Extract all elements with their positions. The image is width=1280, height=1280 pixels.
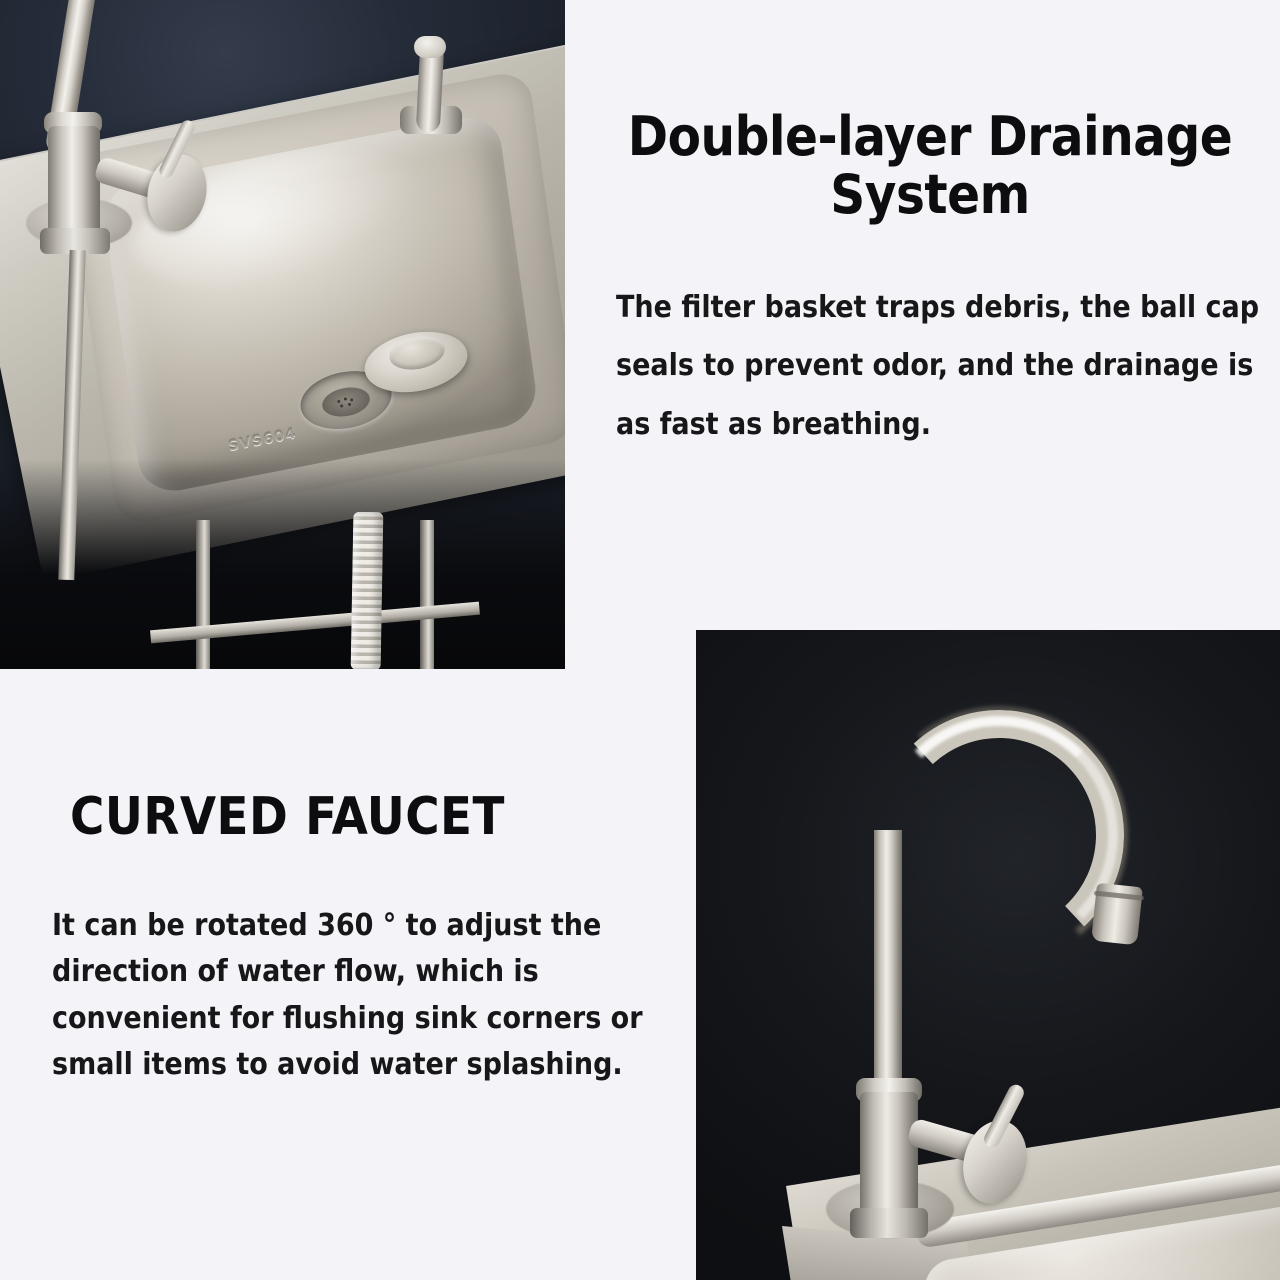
faucet-valve-body	[860, 1092, 918, 1222]
stand-leg-right	[420, 520, 434, 669]
faucet-mount-base	[850, 1208, 928, 1238]
faucet-text-block: CURVED FAUCET It can be rotated 360 ° to…	[52, 790, 702, 1089]
faucet-heading: CURVED FAUCET	[70, 790, 702, 845]
spout-outlet-tip	[1091, 883, 1143, 945]
drainage-heading: Double-layer Drainage System	[580, 108, 1280, 225]
drainage-text-block: Double-layer Drainage System The filter …	[580, 108, 1280, 454]
secondary-valve-knob	[414, 36, 446, 58]
drain-hose	[351, 512, 384, 669]
faucet-photo	[696, 630, 1280, 1280]
drainage-photo: SVS604	[0, 0, 565, 669]
gooseneck-highlight	[880, 716, 1118, 954]
faucet-body	[48, 126, 100, 238]
photo-lower-shadow	[0, 459, 565, 669]
faucet-body-text: It can be rotated 360 ° to adjust the di…	[52, 903, 692, 1089]
faucet-riser-column	[874, 830, 902, 1100]
stand-leg-middle	[196, 520, 210, 669]
drainage-body-text: The filter basket traps debris, the ball…	[616, 279, 1276, 455]
